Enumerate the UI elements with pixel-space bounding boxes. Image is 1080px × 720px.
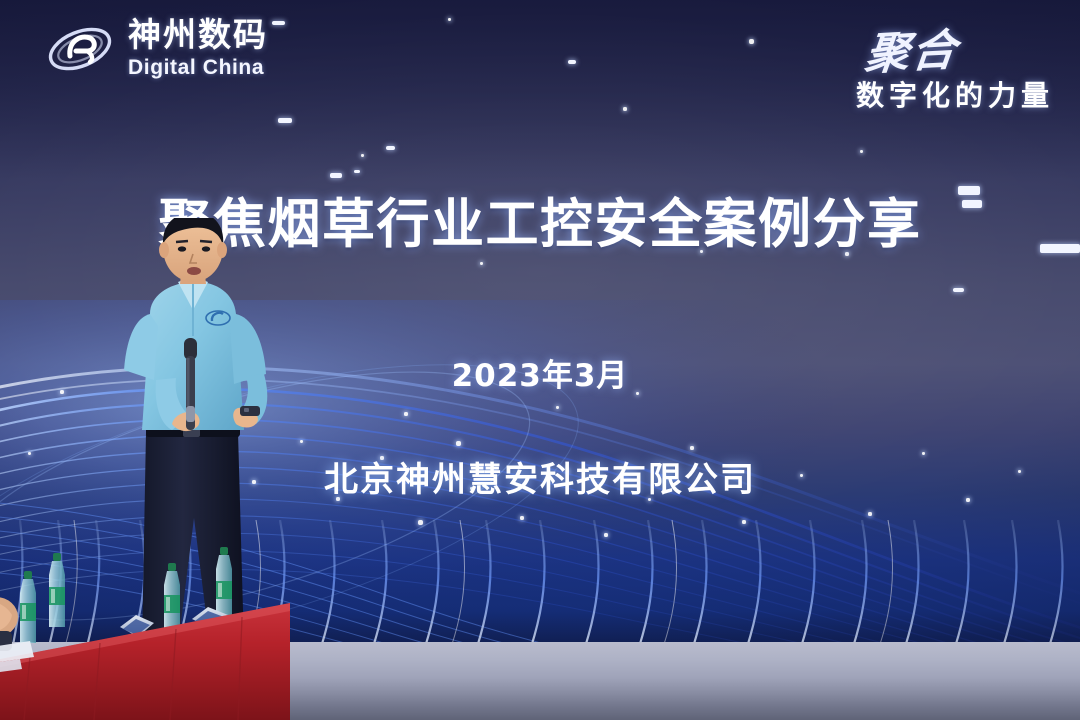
seated-attendee xyxy=(0,597,18,651)
front-row-table xyxy=(0,545,290,720)
water-bottle xyxy=(20,571,36,643)
water-bottle xyxy=(164,563,180,635)
brand-name-en: Digital China xyxy=(128,57,268,78)
swirl-spiral-logo-icon xyxy=(46,18,118,78)
brand-name-cn: 神州数码 xyxy=(128,18,268,51)
clicker-icon xyxy=(240,406,260,416)
event-calligraphy: 聚合 xyxy=(862,14,961,83)
digital-china-wordmark: 神州数码 Digital China xyxy=(128,18,268,78)
water-bottle xyxy=(49,553,65,627)
presentation-stage-photo: 聚焦烟草行业工控安全案例分享 2023年3月 北京神州慧安科技有限公司 神州数码… xyxy=(0,0,1080,720)
water-bottle xyxy=(216,547,232,621)
digital-china-logo: 神州数码 Digital China xyxy=(46,18,268,78)
event-logo: 聚合 数字化的力量 xyxy=(856,16,1054,114)
